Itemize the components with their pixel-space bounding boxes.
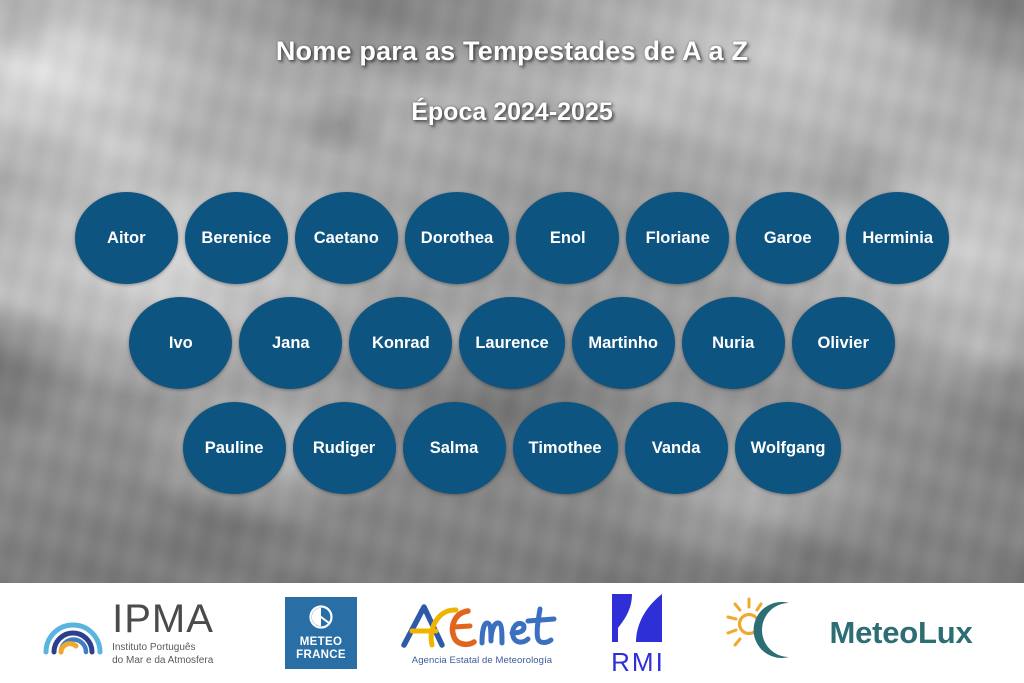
storm-name-bubble[interactable]: Enol [516,192,619,284]
logo-ipma[interactable]: IPMA Instituto Português do Mar e da Atm… [0,583,256,683]
rmi-mark-icon [606,592,670,648]
storm-name-bubble[interactable]: Aitor [75,192,178,284]
ipma-tagline-line2: do Mar e da Atmosfera [112,655,213,666]
storm-name-grid: Aitor Berenice Caetano Dorothea Enol Flo… [0,192,1024,494]
logo-aemet[interactable]: Agencia Estatal de Meteorología [386,583,578,683]
aemet-tagline: Agencia Estatal de Meteorología [412,655,552,666]
meteo-france-word-line1: METEO [300,636,342,648]
storm-name-bubble[interactable]: Floriane [626,192,729,284]
storm-name-bubble[interactable]: Martinho [572,297,675,389]
storm-name-bubble[interactable]: Dorothea [405,192,509,284]
aemet-letters-icon [398,601,566,654]
storm-name-bubble[interactable]: Pauline [183,402,286,494]
storm-name-bubble[interactable]: Konrad [349,297,452,389]
storm-name-bubble[interactable]: Rudiger [293,402,396,494]
partner-logo-bar: IPMA Instituto Português do Mar e da Atm… [0,583,1024,683]
storm-names-poster: Nome para as Tempestades de A a Z Época … [0,0,1024,683]
meteo-france-circle-icon [309,605,333,634]
storm-name-bubble[interactable]: Garoe [736,192,839,284]
storm-name-bubble[interactable]: Vanda [625,402,728,494]
logo-meteo-france[interactable]: METEO FRANCE [256,583,386,683]
storm-name-bubble[interactable]: Timothee [513,402,618,494]
storm-name-bubble[interactable]: Berenice [185,192,288,284]
page-title: Nome para as Tempestades de A a Z [0,0,1024,67]
ipma-tagline-line1: Instituto Português [112,642,195,653]
rainbow-arcs-icon [42,606,104,661]
storm-name-bubble[interactable]: Caetano [295,192,398,284]
storm-name-bubble[interactable]: Laurence [459,297,564,389]
storm-name-row-1: Aitor Berenice Caetano Dorothea Enol Flo… [0,192,1024,284]
meteo-france-word-line2: FRANCE [296,649,346,661]
storm-name-row-2: Ivo Jana Konrad Laurence Martinho Nuria … [0,297,1024,389]
storm-name-bubble[interactable]: Salma [403,402,506,494]
storm-name-bubble[interactable]: Nuria [682,297,785,389]
logo-rmi[interactable]: RMI [578,583,698,683]
meteolux-wordmark: MeteoLux [829,615,972,651]
meteolux-sun-swirl-icon [723,595,827,672]
poster-titles: Nome para as Tempestades de A a Z Época … [0,0,1024,127]
storm-name-bubble[interactable]: Jana [239,297,342,389]
logo-meteolux[interactable]: MeteoLux [698,583,998,683]
ipma-wordmark: IPMA [112,599,214,639]
storm-name-bubble[interactable]: Wolfgang [735,402,842,494]
rmi-wordmark: RMI [611,649,665,675]
storm-name-bubble[interactable]: Herminia [846,192,949,284]
storm-name-bubble[interactable]: Olivier [792,297,895,389]
page-subtitle: Época 2024-2025 [0,67,1024,127]
storm-name-bubble[interactable]: Ivo [129,297,232,389]
storm-name-row-3: Pauline Rudiger Salma Timothee Vanda Wol… [0,402,1024,494]
